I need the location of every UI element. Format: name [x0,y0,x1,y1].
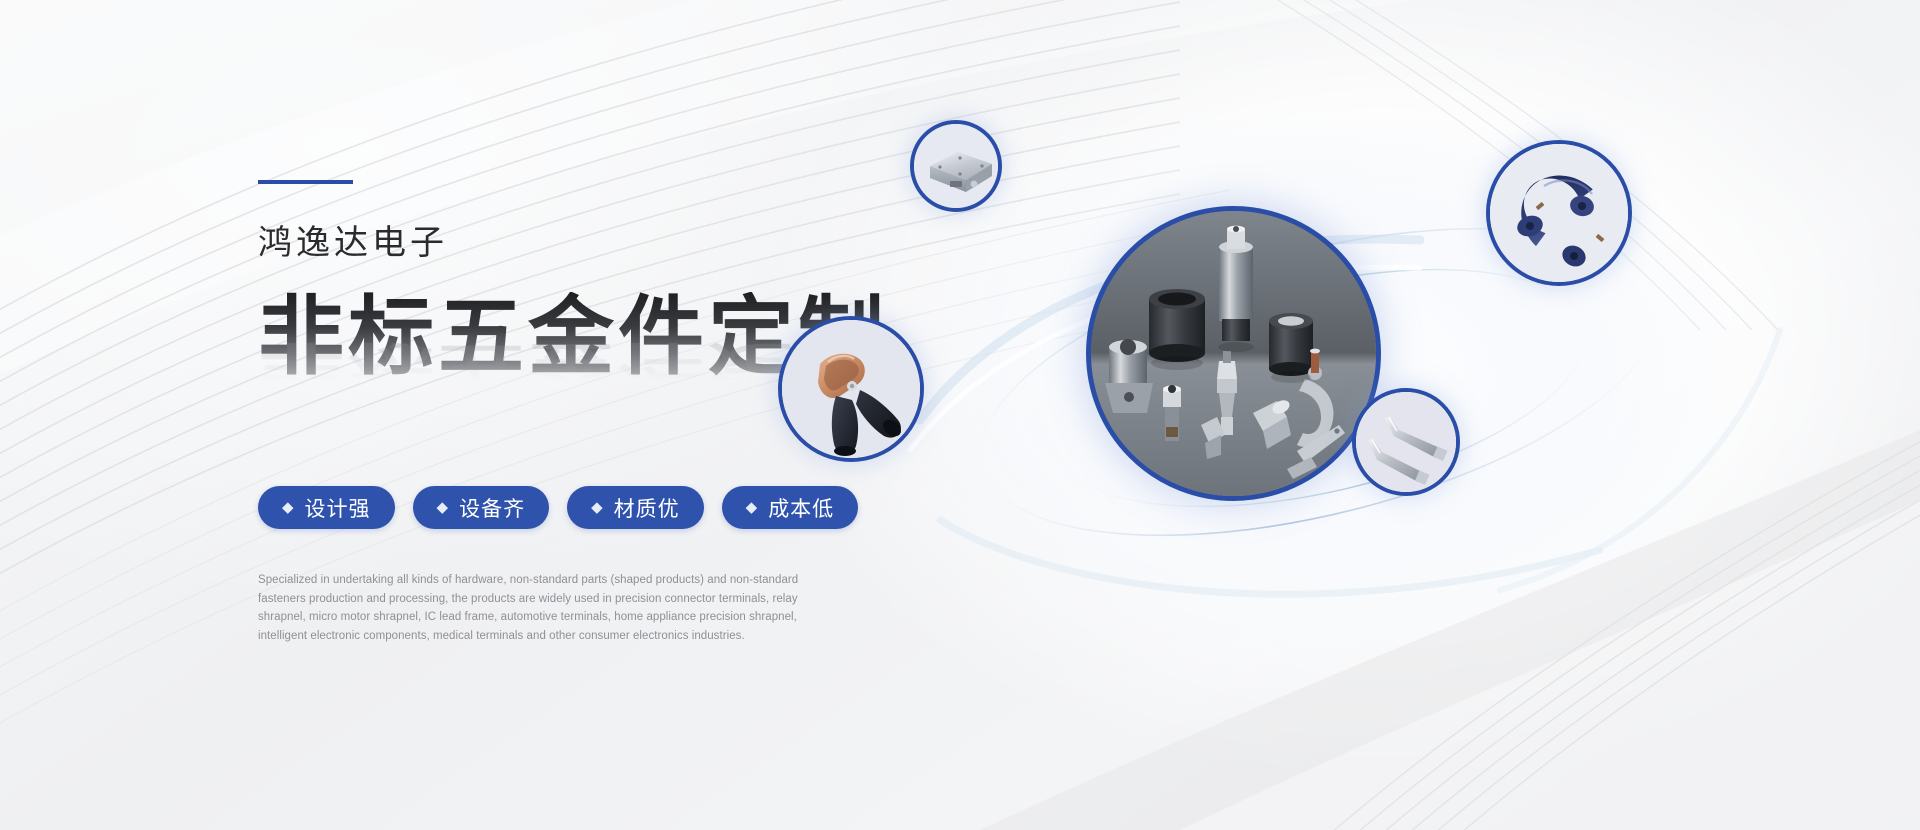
product-showcase [900,120,1800,680]
feature-pill-label: 成本低 [768,493,834,523]
feature-pill-material[interactable]: ◆ 材质优 [567,486,704,529]
feature-pill-equipment[interactable]: ◆ 设备齐 [413,486,550,529]
feature-pill-design[interactable]: ◆ 设计强 [258,486,395,529]
node-copper-battery-clamp[interactable] [778,316,924,462]
accent-rule [258,180,353,184]
metal-shielding-box-image [914,124,998,208]
bent-metal-pins-image [1356,392,1456,492]
node-machined-metal-parts[interactable] [1086,206,1381,501]
hero-banner: 鸿逸达电子 非标五金件定制 非标五金件定制 ◆ 设计强 ◆ 设备齐 ◆ 材质优 … [0,0,1920,830]
diamond-icon: ◆ [282,500,295,515]
diamond-icon: ◆ [591,500,604,515]
copper-battery-clamp-image [782,320,920,458]
feature-pill-cost[interactable]: ◆ 成本低 [722,486,859,529]
diamond-icon: ◆ [437,500,450,515]
feature-pill-label: 设备齐 [459,493,525,523]
node-bent-metal-pins[interactable] [1352,388,1460,496]
node-blue-retaining-ring[interactable] [1486,140,1632,286]
machined-metal-parts-image [1091,211,1376,496]
brand-name: 鸿逸达电子 [258,226,898,260]
node-metal-shielding-box[interactable] [910,120,1002,212]
diamond-icon: ◆ [746,500,759,515]
company-description: Specialized in undertaking all kinds of … [258,571,823,646]
feature-pill-label: 设计强 [305,493,371,523]
blue-retaining-ring-image [1490,144,1628,282]
feature-pill-label: 材质优 [614,493,680,523]
feature-pill-list: ◆ 设计强 ◆ 设备齐 ◆ 材质优 ◆ 成本低 [258,486,898,529]
